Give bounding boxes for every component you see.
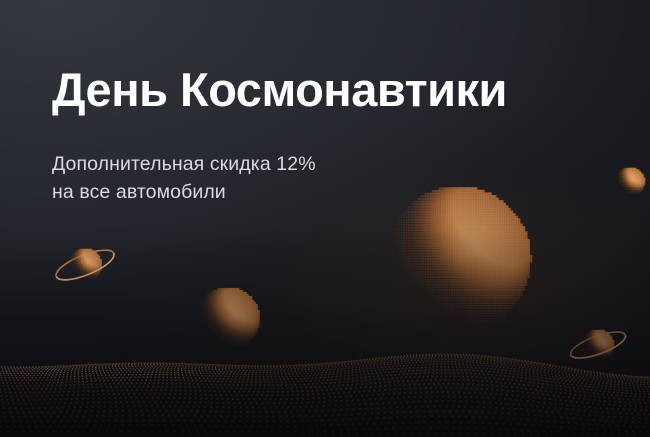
medium-dotted-planet [201,288,260,346]
page-title: День Космонавтики [52,62,507,118]
large-dotted-planet [394,187,532,322]
dotted-wave-landscape [0,354,650,437]
promo-subtitle: Дополнительная скидка 12% на все автомоб… [52,150,316,206]
promo-subtitle-line-1: Дополнительная скидка 12% [52,150,316,178]
space-promo-banner: День Космонавтики Дополнительная скидка … [0,0,650,437]
small-dotted-planet [617,168,645,195]
promo-subtitle-line-2: на все автомобили [52,178,316,206]
ringed-planet-right [568,327,629,364]
ringed-planet-left [53,244,118,286]
